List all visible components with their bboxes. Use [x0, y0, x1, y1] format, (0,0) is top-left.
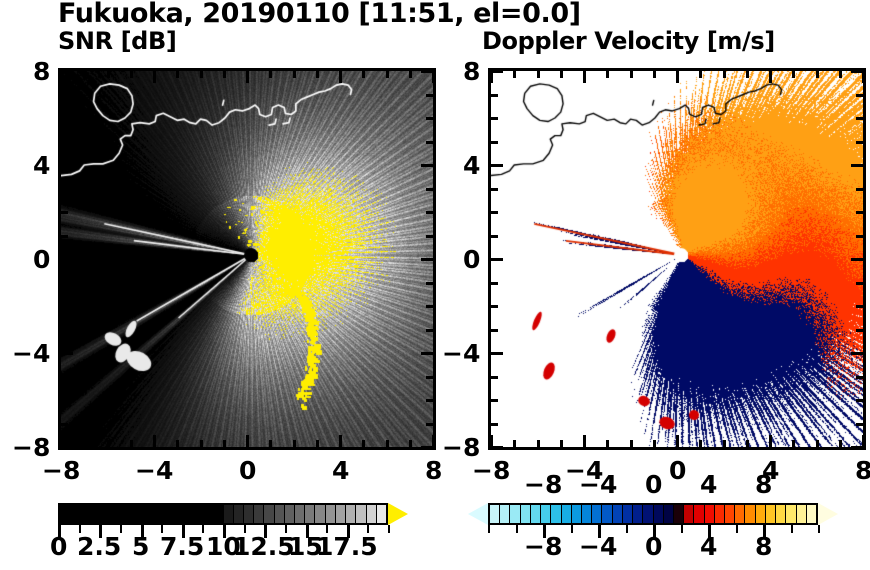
y-axis-tick-label: 8	[463, 57, 480, 86]
axis-tick	[61, 188, 68, 191]
axis-tick	[409, 71, 412, 78]
axis-tick	[316, 71, 319, 78]
axis-tick	[856, 211, 863, 214]
axis-tick	[491, 70, 503, 73]
axis-tick	[839, 71, 842, 78]
axis-tick	[61, 258, 73, 261]
axis-tick	[851, 70, 863, 73]
axis-tick	[426, 329, 433, 332]
axis-tick	[699, 71, 702, 78]
snr-colorbar-extend-arrow	[388, 503, 408, 525]
axis-tick	[61, 305, 68, 308]
axis-tick	[792, 71, 795, 78]
colorbar-tick-label: 5	[132, 532, 149, 561]
axis-tick	[223, 440, 226, 447]
axis-tick	[676, 71, 679, 83]
colorbar-segment	[121, 505, 131, 523]
axis-tick	[61, 141, 68, 144]
x-axis-tick-label: 0	[669, 456, 686, 485]
colorbar-segment	[654, 505, 664, 523]
axis-tick	[851, 352, 863, 355]
colorbar-segment	[264, 505, 274, 523]
axis-tick	[223, 71, 226, 78]
axis-tick	[653, 440, 656, 447]
colorbar-segment	[162, 505, 172, 523]
axis-tick	[362, 71, 365, 78]
colorbar-segment	[285, 505, 295, 523]
axis-tick	[537, 71, 540, 78]
axis-tick	[816, 440, 819, 447]
axis-tick	[513, 440, 516, 447]
colorbar-segment	[295, 505, 305, 523]
axis-tick	[862, 435, 865, 447]
colorbar-segment	[551, 505, 561, 523]
snr-colorbar[interactable]	[58, 503, 388, 525]
colorbar-tick-label: 8	[755, 532, 772, 561]
colorbar-segment	[797, 505, 807, 523]
colorbar-segment	[183, 505, 193, 523]
axis-tick	[386, 440, 389, 447]
axis-tick	[630, 71, 633, 78]
axis-tick	[676, 435, 679, 447]
axis-tick	[83, 71, 86, 78]
colorbar-tick-label: 7.5	[160, 532, 204, 561]
colorbar-tick-label: −4	[579, 532, 617, 561]
axis-tick	[409, 440, 412, 447]
colorbar-segment	[582, 505, 592, 523]
colorbar-segment	[356, 505, 366, 523]
axis-tick	[293, 440, 296, 447]
colorbar-segment	[254, 505, 264, 523]
colorbar-segment	[745, 505, 755, 523]
y-axis-tick-label: 0	[463, 245, 480, 274]
axis-tick	[426, 399, 433, 402]
y-axis-tick-label: 4	[33, 151, 50, 180]
doppler-colorbar-extend-arrow-low	[468, 503, 488, 525]
colorbar-segment	[694, 505, 704, 523]
axis-tick	[491, 305, 498, 308]
axis-tick	[61, 117, 68, 120]
axis-tick	[856, 376, 863, 379]
axis-tick	[856, 282, 863, 285]
axis-tick	[491, 352, 503, 355]
colorbar-tick-label: 2.5	[77, 532, 121, 561]
colorbar-segment	[377, 505, 386, 523]
colorbar-segment	[674, 505, 684, 523]
colorbar-segment	[60, 505, 70, 523]
doppler-colorbar-upper-label: −4	[579, 470, 617, 499]
axis-tick	[130, 440, 133, 447]
snr-plot-area	[61, 71, 433, 447]
colorbar-segment	[735, 505, 745, 523]
y-axis-tick-label: 4	[463, 151, 480, 180]
axis-tick	[746, 440, 749, 447]
axis-tick	[583, 71, 586, 83]
colorbar-segment	[541, 505, 551, 523]
axis-tick	[269, 71, 272, 78]
x-axis-tick-label: 0	[239, 456, 256, 485]
axis-tick	[856, 141, 863, 144]
axis-tick	[426, 211, 433, 214]
axis-tick	[316, 440, 319, 447]
axis-tick	[856, 329, 863, 332]
colorbar-segment	[193, 505, 203, 523]
axis-tick	[421, 70, 433, 73]
y-axis-tick-label: −8	[12, 433, 50, 462]
axis-tick	[61, 352, 73, 355]
axis-tick	[537, 440, 540, 447]
x-axis-tick-label: −4	[135, 456, 173, 485]
colorbar-tick	[791, 525, 793, 533]
axis-tick	[61, 70, 73, 73]
axis-tick	[61, 235, 68, 238]
y-axis-tick-label: 8	[33, 57, 50, 86]
axis-tick	[426, 423, 433, 426]
colorbar-segment	[510, 505, 520, 523]
axis-tick	[246, 71, 249, 83]
axis-tick	[153, 435, 156, 447]
x-axis-tick-label: 4	[332, 456, 349, 485]
colorbar-tick	[388, 525, 390, 533]
axis-tick	[856, 235, 863, 238]
colorbar-tick-label: 4	[700, 532, 717, 561]
colorbar-segment	[684, 505, 694, 523]
axis-tick	[426, 235, 433, 238]
colorbar-segment	[244, 505, 254, 523]
axis-tick	[269, 440, 272, 447]
axis-tick	[792, 440, 795, 447]
axis-tick	[339, 71, 342, 83]
colorbar-tick	[626, 525, 628, 533]
axis-tick	[130, 71, 133, 78]
axis-tick	[839, 440, 842, 447]
colorbar-tick-label: 0	[50, 532, 67, 561]
axis-tick	[699, 440, 702, 447]
axis-tick	[513, 71, 516, 78]
colorbar-segment	[807, 505, 816, 523]
axis-tick	[61, 376, 68, 379]
colorbar-segment	[346, 505, 356, 523]
colorbar-tick	[516, 525, 518, 533]
y-axis-tick-label: −4	[442, 339, 480, 368]
colorbar-segment	[715, 505, 725, 523]
doppler-colorbar-upper-label: −8	[524, 470, 562, 499]
colorbar-segment	[80, 505, 90, 523]
axis-tick	[176, 440, 179, 447]
axis-tick	[723, 440, 726, 447]
axis-tick	[723, 71, 726, 78]
axis-tick	[61, 446, 73, 449]
snr-radar-image	[61, 71, 433, 447]
colorbar-segment	[521, 505, 531, 523]
axis-tick	[856, 94, 863, 97]
colorbar-tick-label: 0	[645, 532, 662, 561]
axis-tick	[107, 440, 110, 447]
doppler-plot-area	[491, 71, 863, 447]
axis-tick	[61, 329, 68, 332]
colorbar-segment	[602, 505, 612, 523]
colorbar-segment	[776, 505, 786, 523]
axis-tick	[851, 164, 863, 167]
axis-tick	[426, 141, 433, 144]
axis-tick	[816, 71, 819, 78]
doppler-panel-subtitle: Doppler Velocity [m/s]	[482, 27, 775, 55]
axis-tick	[200, 440, 203, 447]
colorbar-segment	[490, 505, 500, 523]
axis-tick	[421, 352, 433, 355]
axis-tick	[851, 258, 863, 261]
snr-plot-panel[interactable]	[58, 68, 436, 450]
colorbar-segment	[326, 505, 336, 523]
colorbar-segment	[562, 505, 572, 523]
colorbar-tick	[681, 525, 683, 533]
colorbar-segment	[234, 505, 244, 523]
colorbar-tick-label: 17.5	[316, 532, 378, 561]
axis-tick	[426, 94, 433, 97]
colorbar-segment	[142, 505, 152, 523]
colorbar-segment	[275, 505, 285, 523]
colorbar-segment	[500, 505, 510, 523]
colorbar-segment	[336, 505, 346, 523]
colorbar-segment	[111, 505, 121, 523]
doppler-plot-panel[interactable]	[488, 68, 866, 450]
axis-tick	[856, 188, 863, 191]
colorbar-segment	[172, 505, 182, 523]
colorbar-segment	[531, 505, 541, 523]
axis-tick	[491, 399, 498, 402]
axis-tick	[491, 117, 498, 120]
colorbar-segment	[756, 505, 766, 523]
colorbar-tick	[488, 525, 490, 533]
axis-tick	[426, 117, 433, 120]
axis-tick	[746, 71, 749, 78]
doppler-colorbar-upper-label: 4	[700, 470, 717, 499]
doppler-colorbar-upper-label: 8	[755, 470, 772, 499]
axis-tick	[83, 440, 86, 447]
axis-tick	[61, 211, 68, 214]
axis-tick	[856, 399, 863, 402]
axis-tick	[432, 435, 435, 447]
axis-tick	[426, 376, 433, 379]
snr-colorbar-gradient	[58, 503, 388, 525]
y-axis-tick-label: 0	[33, 245, 50, 274]
colorbar-segment	[305, 505, 315, 523]
x-axis-tick-label: 8	[425, 456, 442, 485]
axis-tick	[560, 440, 563, 447]
colorbar-segment	[592, 505, 602, 523]
axis-tick	[856, 423, 863, 426]
colorbar-segment	[70, 505, 80, 523]
axis-tick	[491, 235, 498, 238]
axis-tick	[61, 282, 68, 285]
axis-tick	[61, 164, 73, 167]
colorbar-segment	[213, 505, 223, 523]
axis-tick	[769, 71, 772, 83]
colorbar-tick-label: −8	[524, 532, 562, 561]
y-axis-tick-label: −4	[12, 339, 50, 368]
axis-tick	[491, 211, 498, 214]
axis-tick	[200, 71, 203, 78]
colorbar-segment	[623, 505, 633, 523]
axis-tick	[426, 188, 433, 191]
axis-tick	[61, 94, 68, 97]
axis-tick	[606, 440, 609, 447]
colorbar-tick	[736, 525, 738, 533]
axis-tick	[769, 435, 772, 447]
colorbar-tick	[818, 525, 820, 533]
axis-tick	[583, 435, 586, 447]
colorbar-segment	[224, 505, 234, 523]
page-title: Fukuoka, 20190110 [11:51, el=0.0]	[58, 0, 581, 29]
axis-tick	[560, 71, 563, 78]
axis-tick	[491, 446, 503, 449]
colorbar-segment	[786, 505, 796, 523]
axis-tick	[421, 164, 433, 167]
axis-tick	[426, 305, 433, 308]
colorbar-segment	[664, 505, 674, 523]
axis-tick	[491, 164, 503, 167]
colorbar-segment	[101, 505, 111, 523]
axis-tick	[606, 71, 609, 78]
axis-tick	[491, 141, 498, 144]
doppler-colorbar-extend-arrow-high	[818, 503, 838, 525]
x-axis-tick-label: 8	[855, 456, 870, 485]
colorbar-tick-label: 12.5	[233, 532, 295, 561]
doppler-colorbar-upper-label: 0	[645, 470, 662, 499]
axis-tick	[856, 305, 863, 308]
colorbar-segment	[91, 505, 101, 523]
axis-tick	[491, 188, 498, 191]
axis-tick	[491, 376, 498, 379]
colorbar-segment	[132, 505, 142, 523]
axis-tick	[362, 440, 365, 447]
colorbar-segment	[633, 505, 643, 523]
axis-tick	[426, 282, 433, 285]
colorbar-segment	[613, 505, 623, 523]
snr-panel-subtitle: SNR [dB]	[58, 27, 176, 55]
doppler-colorbar-gradient	[488, 503, 818, 525]
colorbar-segment	[572, 505, 582, 523]
doppler-radar-image	[491, 71, 863, 447]
axis-tick	[491, 423, 498, 426]
colorbar-segment	[315, 505, 325, 523]
colorbar-segment	[705, 505, 715, 523]
colorbar-tick	[571, 525, 573, 533]
axis-tick	[653, 71, 656, 78]
axis-tick	[107, 71, 110, 78]
doppler-colorbar[interactable]	[488, 503, 818, 525]
axis-tick	[630, 440, 633, 447]
axis-tick	[339, 435, 342, 447]
axis-tick	[491, 282, 498, 285]
axis-tick	[491, 258, 503, 261]
axis-tick	[246, 435, 249, 447]
colorbar-segment	[203, 505, 213, 523]
axis-tick	[421, 258, 433, 261]
axis-tick	[386, 71, 389, 78]
axis-tick	[491, 94, 498, 97]
axis-tick	[856, 117, 863, 120]
axis-tick	[153, 71, 156, 83]
axis-tick	[293, 71, 296, 78]
colorbar-segment	[152, 505, 162, 523]
axis-tick	[491, 329, 498, 332]
colorbar-segment	[725, 505, 735, 523]
axis-tick	[61, 399, 68, 402]
y-axis-tick-label: −8	[442, 433, 480, 462]
colorbar-segment	[643, 505, 653, 523]
axis-tick	[176, 71, 179, 78]
colorbar-segment	[766, 505, 776, 523]
colorbar-segment	[367, 505, 377, 523]
axis-tick	[61, 423, 68, 426]
